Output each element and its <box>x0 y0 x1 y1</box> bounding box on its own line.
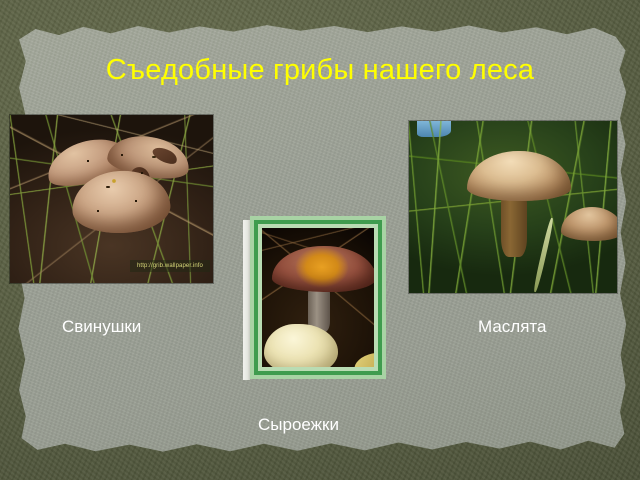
photo-syroezhki[interactable] <box>262 228 374 367</box>
frame-inner-band <box>258 224 378 371</box>
debris-specks <box>10 115 213 283</box>
page-title: Съедобные грибы нашего леса <box>0 56 640 85</box>
photo-maslyata[interactable] <box>409 121 617 293</box>
caption-svinushki: Свинушки <box>62 318 141 335</box>
frame-middle-band <box>254 220 382 375</box>
caption-syroezhki: Сыроежки <box>258 416 339 433</box>
frame-edge-strip <box>243 220 250 380</box>
caption-maslyata: Маслята <box>478 318 546 335</box>
photo-watermark: http://grib.wallpaper.info <box>130 260 210 272</box>
mushroom-stem <box>501 195 527 257</box>
slide-canvas: Съедобные грибы нашего леса http://grib.… <box>0 0 640 480</box>
green-picture-frame <box>250 216 386 379</box>
photo-svinushki[interactable]: http://grib.wallpaper.info <box>10 115 213 283</box>
